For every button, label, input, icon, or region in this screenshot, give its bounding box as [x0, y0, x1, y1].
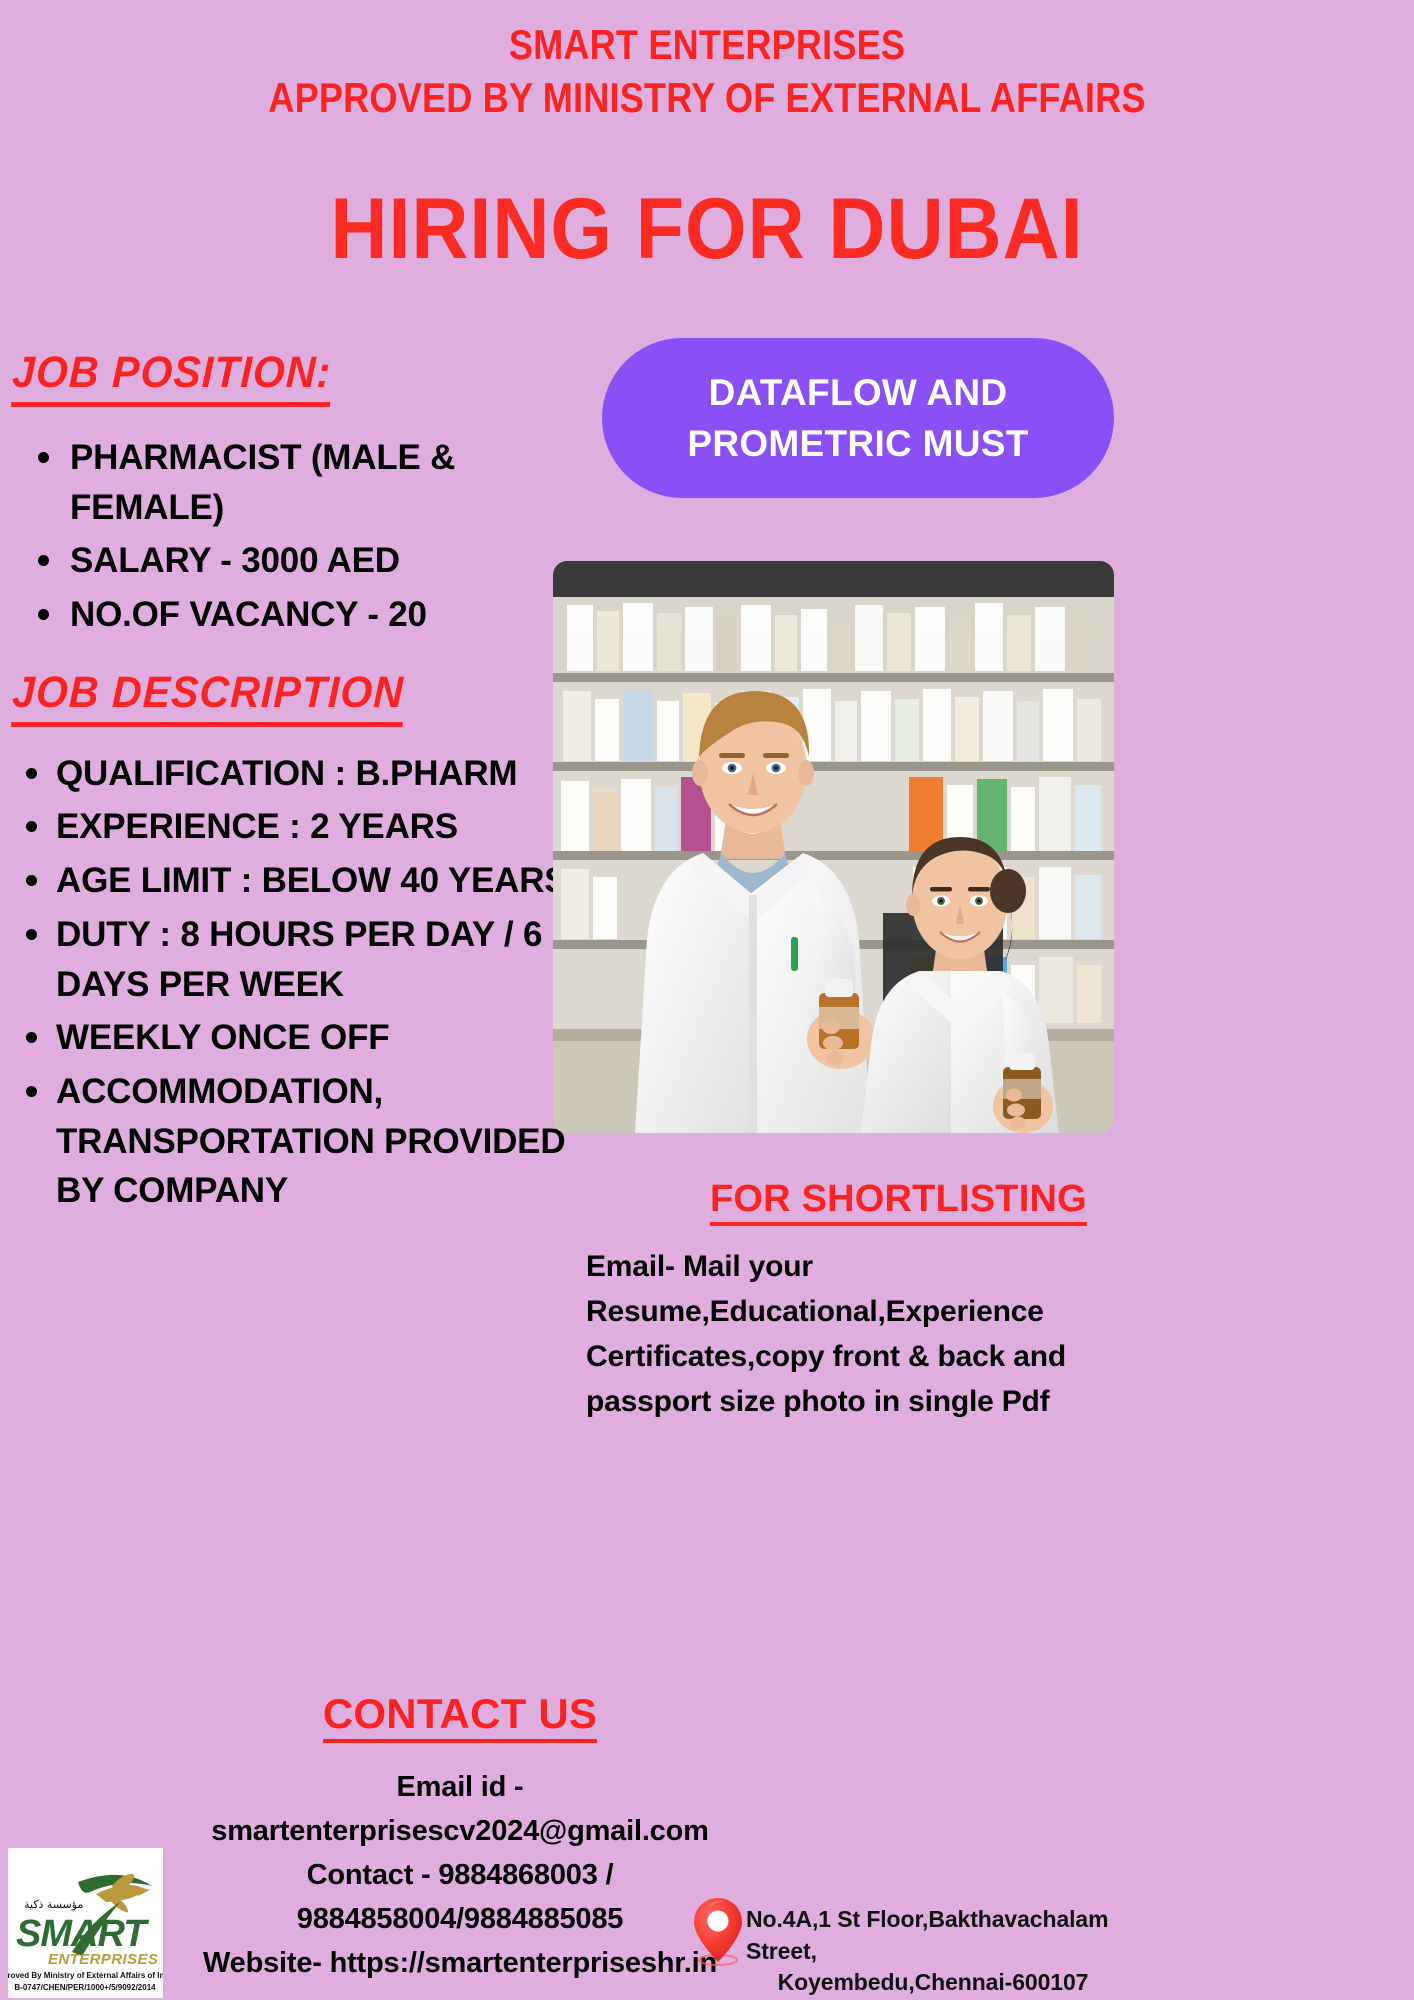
shortlisting-line-1: Email- Mail your	[586, 1250, 813, 1283]
list-item: QUALIFICATION : B.PHARM	[8, 749, 568, 799]
job-position-heading: JOB POSITION:	[11, 348, 332, 407]
ministry-approval-line: APPROVED BY MINISTRY OF EXTERNAL AFFAIRS	[99, 71, 1315, 124]
poster-header: SMART ENTERPRISES APPROVED BY MINISTRY O…	[0, 18, 1414, 125]
shortlisting-section: FOR SHORTLISTING Email- Mail your Resume…	[586, 1178, 1116, 1424]
logo-sub-wordmark: ENTERPRISES	[48, 1951, 158, 1968]
badge-line-2: PROMETRIC MUST	[687, 423, 1028, 464]
email-address[interactable]: smartenterprisescv2024@gmail.com	[211, 1815, 708, 1847]
badge-text: DATAFLOW AND PROMETRIC MUST	[687, 367, 1028, 469]
left-content-column: JOB POSITION: PHARMACIST (MALE & FEMALE)…	[8, 348, 568, 1220]
shortlisting-line-3: Certificates,copy front & back and	[586, 1340, 1066, 1373]
list-item: WEEKLY ONCE OFF	[8, 1013, 568, 1063]
job-position-heading-wrap: JOB POSITION:	[12, 348, 568, 407]
logo-registration-text: B-0747/CHEN/PER/1000+/5/9092/2014	[14, 1983, 156, 1992]
logo-approval-text: Approved By Ministry of External Affairs…	[8, 1971, 163, 1980]
contact-heading: CONTACT US	[323, 1690, 597, 1743]
logo-arabic-text: مؤسسة ذكية	[24, 1898, 83, 1911]
list-item: PHARMACIST (MALE & FEMALE)	[8, 433, 568, 532]
address-line-1: No.4A,1 St Floor,Bakthavachalam Street,	[746, 1906, 1108, 1964]
list-item: SALARY - 3000 AED	[8, 536, 568, 586]
location-pin-icon	[690, 1894, 746, 1968]
phone-line-1[interactable]: Contact - 9884868003 /	[307, 1859, 614, 1891]
logo-wordmark: SMART	[16, 1913, 149, 1955]
list-item: DUTY : 8 HOURS PER DAY / 6 DAYS PER WEEK	[8, 910, 568, 1009]
company-name: SMART ENTERPRISES	[99, 18, 1315, 71]
pharmacists-photo	[553, 561, 1114, 1133]
address-text: No.4A,1 St Floor,Bakthavachalam Street, …	[746, 1898, 1120, 1999]
company-logo: مؤسسة ذكية SMART ENTERPRISES Approved By…	[8, 1848, 163, 1998]
list-item: NO.OF VACANCY - 20	[8, 590, 568, 640]
list-item: EXPERIENCE : 2 YEARS	[8, 802, 568, 852]
shortlisting-instructions: Email- Mail your Resume,Educational,Expe…	[586, 1244, 1116, 1424]
smart-enterprises-logo: مؤسسة ذكية SMART ENTERPRISES Approved By…	[8, 1848, 163, 1998]
address-line-2: Koyembedu,Chennai-600107	[746, 1967, 1120, 1999]
website-link[interactable]: Website- https://smartenterpriseshr.in	[203, 1947, 717, 1979]
email-label: Email id -	[397, 1771, 524, 1803]
list-item: ACCOMMODATION, TRANSPORTATION PROVIDED B…	[8, 1067, 568, 1216]
job-description-heading-wrap: JOB DESCRIPTION	[12, 668, 568, 727]
office-address: No.4A,1 St Floor,Bakthavachalam Street, …	[690, 1898, 1120, 1999]
dataflow-prometric-badge: DATAFLOW AND PROMETRIC MUST	[602, 338, 1114, 498]
job-description-list: QUALIFICATION : B.PHARM EXPERIENCE : 2 Y…	[8, 749, 568, 1216]
phone-line-2[interactable]: 9884858004/9884885085	[297, 1903, 623, 1935]
list-item: AGE LIMIT : BELOW 40 YEARS	[8, 856, 568, 906]
page-title: HIRING FOR DUBAI	[57, 180, 1358, 279]
shortlisting-heading: FOR SHORTLISTING	[710, 1178, 1087, 1226]
pharmacy-scene-illustration	[553, 561, 1114, 1133]
job-position-list: PHARMACIST (MALE & FEMALE) SALARY - 3000…	[8, 433, 568, 640]
job-description-heading: JOB DESCRIPTION	[11, 668, 405, 727]
shortlisting-line-4: passport size photo in single Pdf	[586, 1385, 1049, 1418]
shortlisting-line-2: Resume,Educational,Experience	[586, 1295, 1044, 1328]
badge-line-1: DATAFLOW AND	[709, 372, 1008, 413]
contact-section: CONTACT US Email id - smartenterprisescv…	[150, 1690, 770, 1985]
contact-details: Email id - smartenterprisescv2024@gmail.…	[150, 1765, 770, 1985]
